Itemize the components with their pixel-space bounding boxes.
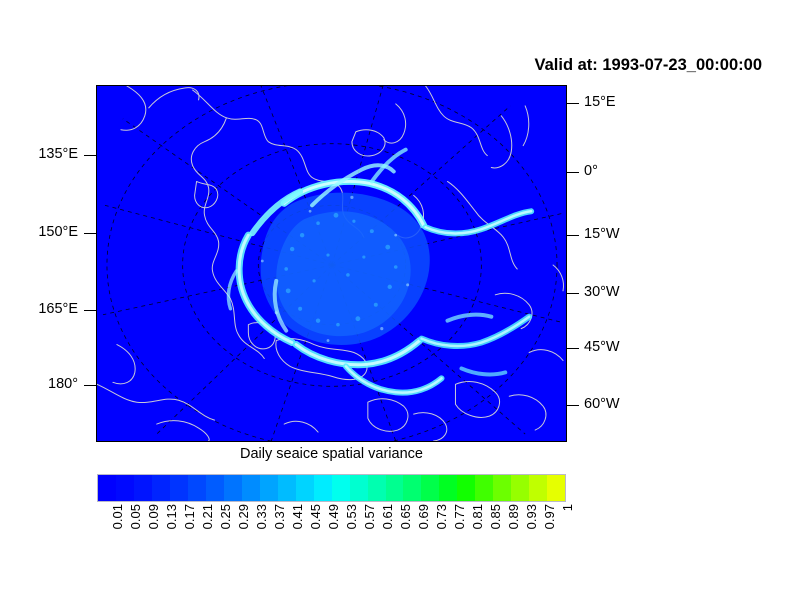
colorbar xyxy=(97,474,566,502)
colorbar-segment xyxy=(296,475,314,501)
axis-label-right: 30°W xyxy=(584,285,620,300)
colorbar-segment xyxy=(368,475,386,501)
axis-label-left: 180° xyxy=(48,377,78,392)
colorbar-tick-label: 0.33 xyxy=(255,504,268,529)
colorbar-tick-label: 0.77 xyxy=(453,504,466,529)
axis-tick-right xyxy=(567,348,579,349)
colorbar-segment xyxy=(475,475,493,501)
axis-tick-left xyxy=(84,155,96,156)
colorbar-tick-label: 0.09 xyxy=(147,504,160,529)
colorbar-segment xyxy=(511,475,529,501)
colorbar-segment xyxy=(260,475,278,501)
axis-label-left: 135°E xyxy=(38,147,78,162)
colorbar-segment xyxy=(403,475,421,501)
axis-tick-right xyxy=(567,235,579,236)
axis-label-right: 15°W xyxy=(584,227,620,242)
colorbar-segment xyxy=(224,475,242,501)
axis-tick-right xyxy=(567,293,579,294)
colorbar-tick-label: 0.49 xyxy=(327,504,340,529)
colorbar-gradient xyxy=(97,474,566,502)
map-canvas xyxy=(97,86,566,441)
colorbar-tick-labels: 0.010.050.090.130.170.210.250.290.330.37… xyxy=(97,504,566,564)
colorbar-segment xyxy=(152,475,170,501)
colorbar-tick-label: 0.81 xyxy=(471,504,484,529)
axis-tick-left xyxy=(84,310,96,311)
colorbar-segment xyxy=(439,475,457,501)
colorbar-segment xyxy=(278,475,296,501)
colorbar-tick-label: 0.17 xyxy=(183,504,196,529)
page-title: Valid at: 1993-07-23_00:00:00 xyxy=(0,56,762,75)
colorbar-segment xyxy=(493,475,511,501)
colorbar-tick-label: 0.73 xyxy=(435,504,448,529)
colorbar-tick-label: 0.05 xyxy=(129,504,142,529)
colorbar-tick-label: 1 xyxy=(561,504,574,511)
axis-tick-left xyxy=(84,233,96,234)
axis-tick-right xyxy=(567,103,579,104)
colorbar-caption: Daily seaice spatial variance xyxy=(96,446,567,462)
colorbar-segment xyxy=(547,475,565,501)
colorbar-segment xyxy=(457,475,475,501)
colorbar-tick-label: 0.25 xyxy=(219,504,232,529)
colorbar-segment xyxy=(170,475,188,501)
colorbar-tick-label: 0.37 xyxy=(273,504,286,529)
colorbar-tick-label: 0.13 xyxy=(165,504,178,529)
colorbar-tick-label: 0.89 xyxy=(507,504,520,529)
axis-tick-left xyxy=(84,385,96,386)
axis-label-right: 15°E xyxy=(584,95,616,110)
colorbar-segment xyxy=(332,475,350,501)
colorbar-segment xyxy=(529,475,547,501)
colorbar-segment xyxy=(386,475,404,501)
colorbar-tick-label: 0.93 xyxy=(525,504,538,529)
colorbar-segment xyxy=(116,475,134,501)
colorbar-tick-label: 0.57 xyxy=(363,504,376,529)
axis-label-left: 165°E xyxy=(38,302,78,317)
colorbar-tick-label: 0.61 xyxy=(381,504,394,529)
colorbar-tick-label: 0.29 xyxy=(237,504,250,529)
colorbar-segment xyxy=(350,475,368,501)
axis-tick-right xyxy=(567,172,579,173)
colorbar-tick-label: 0.45 xyxy=(309,504,322,529)
colorbar-segment xyxy=(188,475,206,501)
axis-label-right: 0° xyxy=(584,164,598,179)
colorbar-segment xyxy=(98,475,116,501)
colorbar-tick-label: 0.41 xyxy=(291,504,304,529)
map-plot-area xyxy=(96,85,567,442)
colorbar-tick-label: 0.85 xyxy=(489,504,502,529)
axis-label-left: 150°E xyxy=(38,225,78,240)
axis-label-right: 60°W xyxy=(584,397,620,412)
colorbar-segment xyxy=(242,475,260,501)
colorbar-segment xyxy=(134,475,152,501)
colorbar-tick-label: 0.53 xyxy=(345,504,358,529)
axis-tick-right xyxy=(567,405,579,406)
colorbar-tick-label: 0.21 xyxy=(201,504,214,529)
colorbar-segment xyxy=(314,475,332,501)
colorbar-tick-label: 0.69 xyxy=(417,504,430,529)
colorbar-tick-label: 0.01 xyxy=(111,504,124,529)
colorbar-tick-label: 0.65 xyxy=(399,504,412,529)
colorbar-tick-label: 0.97 xyxy=(543,504,556,529)
colorbar-segment xyxy=(206,475,224,501)
colorbar-segment xyxy=(421,475,439,501)
axis-label-right: 45°W xyxy=(584,340,620,355)
